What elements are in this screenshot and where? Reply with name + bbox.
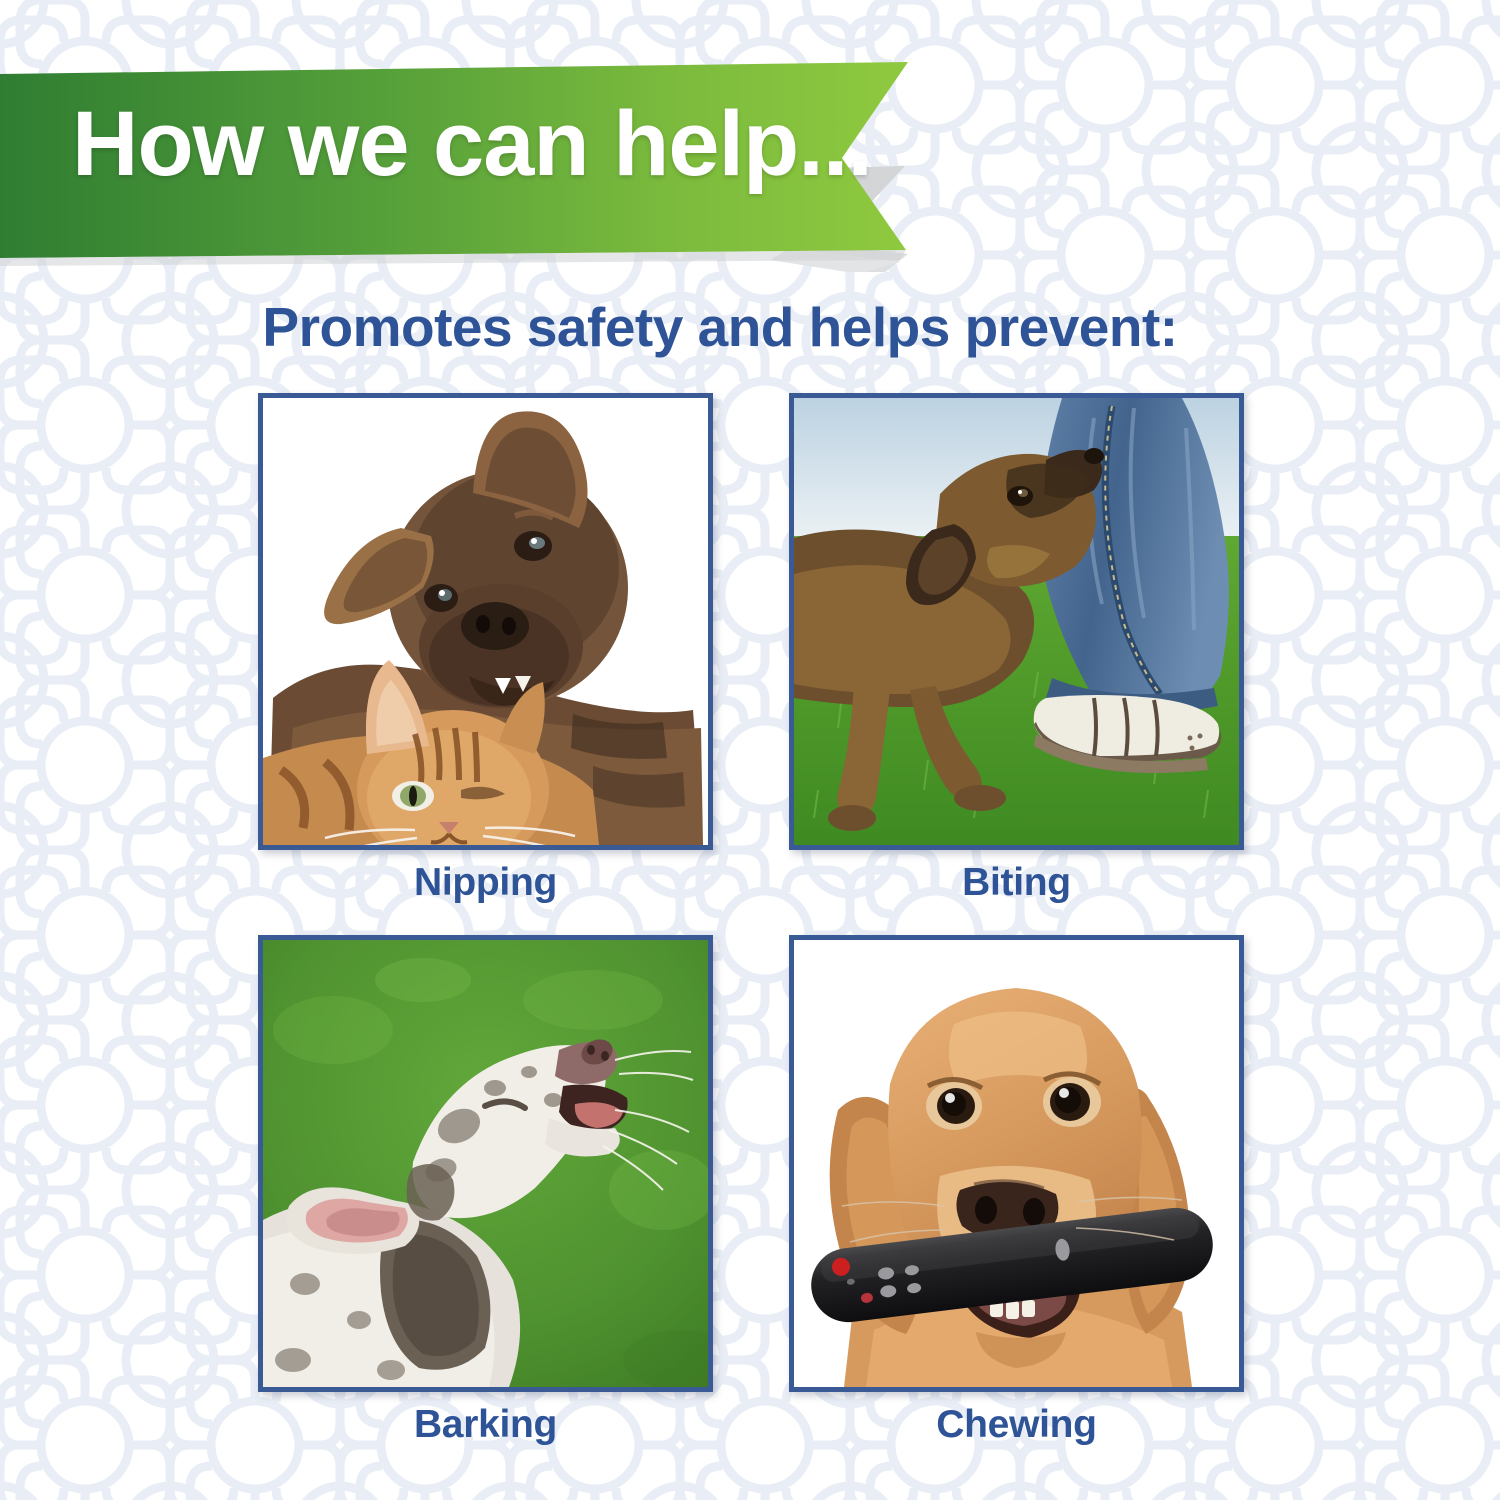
prevention-tile-grid: Nipping bbox=[0, 0, 1500, 1500]
puppy-biting-jeans-photo bbox=[794, 398, 1239, 845]
tile-frame bbox=[258, 393, 713, 850]
tile-frame bbox=[789, 935, 1244, 1392]
tile-caption: Nipping bbox=[258, 860, 713, 906]
tile-caption: Biting bbox=[789, 860, 1244, 906]
chihuahua-barking-photo bbox=[263, 940, 708, 1387]
tile-caption: Chewing bbox=[789, 1402, 1244, 1448]
tile-frame bbox=[258, 935, 713, 1392]
tile-frame bbox=[789, 393, 1244, 850]
puppy-nipping-kitten-photo bbox=[263, 398, 708, 845]
golden-retriever-chewing-remote-photo bbox=[794, 940, 1239, 1387]
tile-caption: Barking bbox=[258, 1402, 713, 1448]
